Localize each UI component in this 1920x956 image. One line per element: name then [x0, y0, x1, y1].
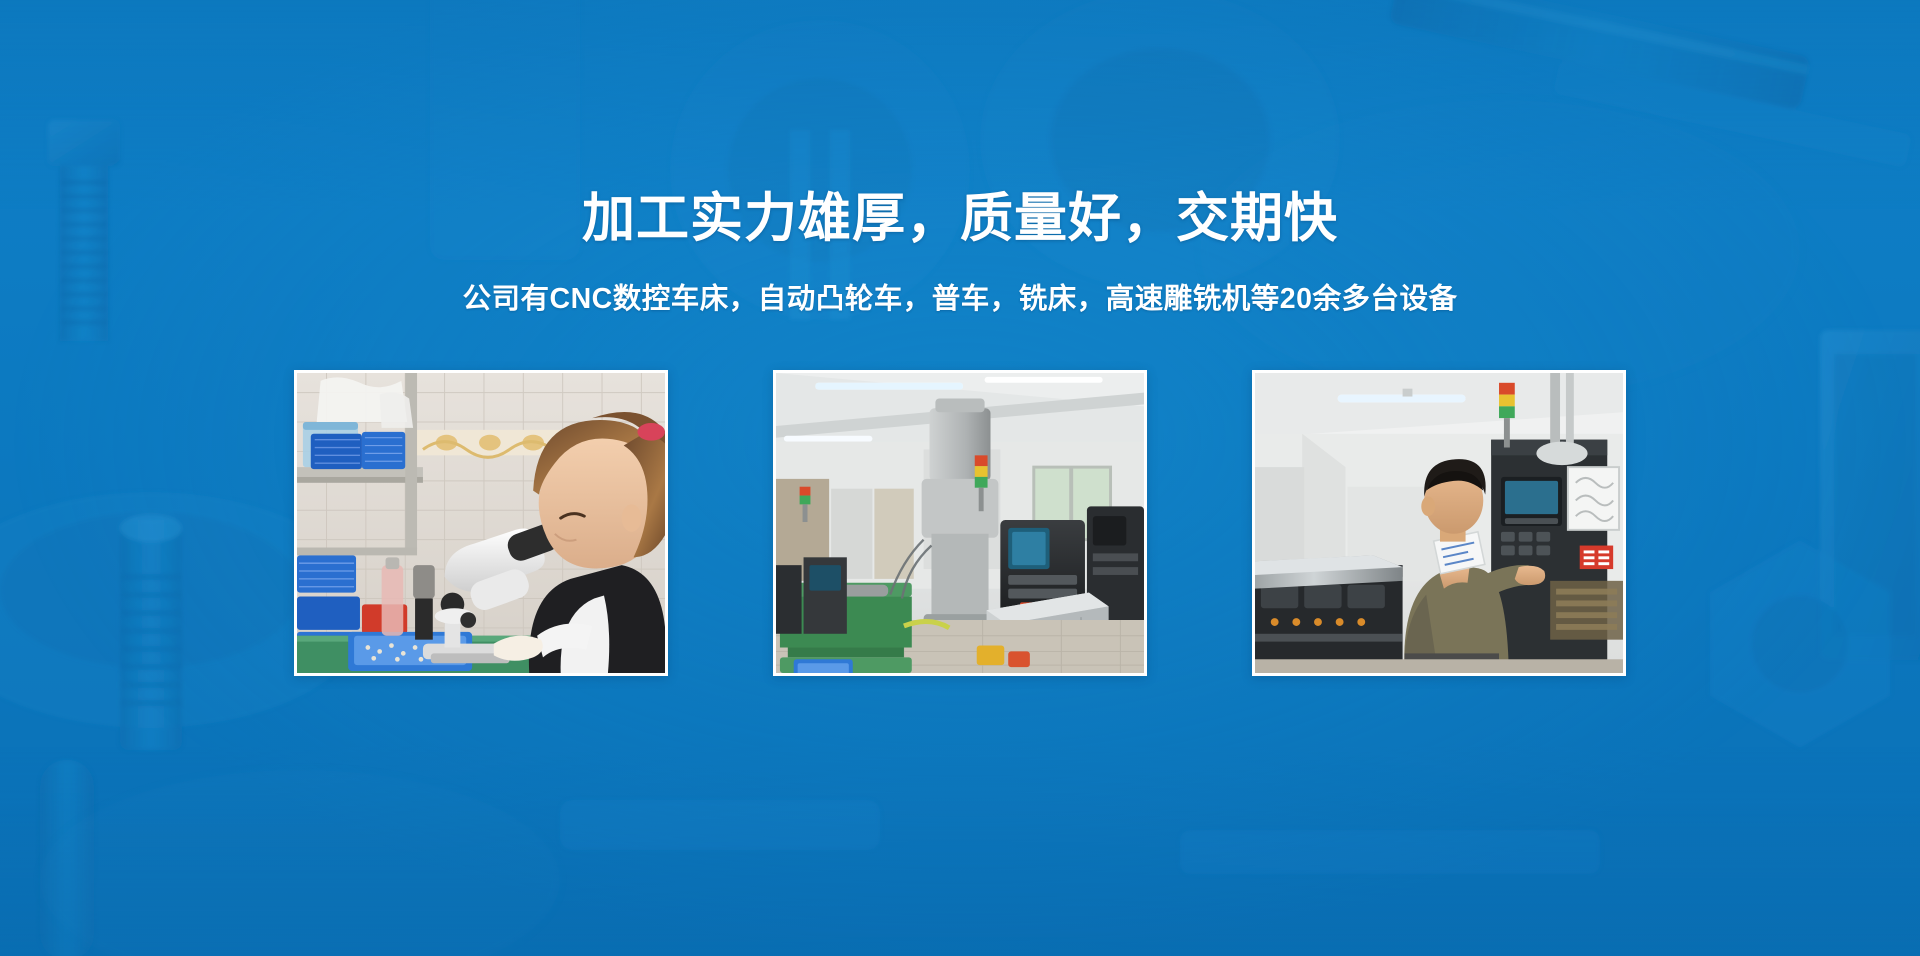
photo-quality-inspection-microscope[interactable] [294, 370, 668, 676]
page-title: 加工实力雄厚，质量好，交期快 [0, 186, 1920, 252]
capability-banner: 加工实力雄厚，质量好，交期快 公司有CNC数控车床，自动凸轮车，普车，铣床，高速… [0, 0, 1920, 956]
photo-operator-at-cnc-machine[interactable] [1252, 370, 1626, 676]
photo-cnc-machining-workshop[interactable] [773, 370, 1147, 676]
banner-text-block: 加工实力雄厚，质量好，交期快 公司有CNC数控车床，自动凸轮车，普车，铣床，高速… [0, 186, 1920, 318]
photo-gallery [0, 354, 1920, 662]
page-subtitle: 公司有CNC数控车床，自动凸轮车，普车，铣床，高速雕铣机等20余多台设备 [0, 280, 1920, 318]
